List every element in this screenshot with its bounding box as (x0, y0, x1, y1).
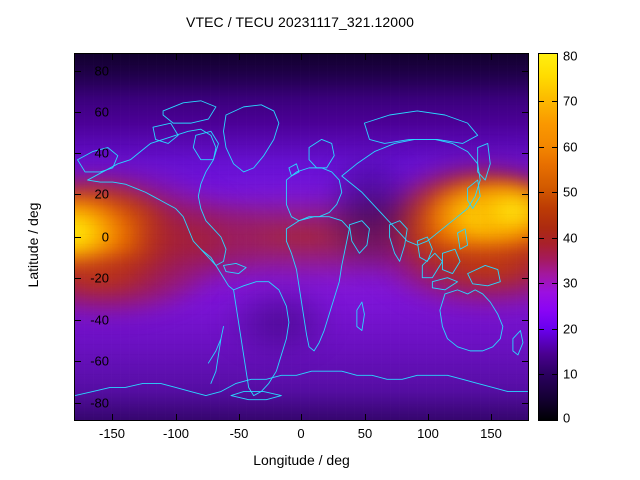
ytick-mark-right (522, 278, 529, 279)
coastline-antarctic-peninsula (208, 326, 223, 383)
xtick-label: 0 (297, 426, 304, 441)
xtick-label: -150 (99, 426, 125, 441)
coastline-scandinavia (309, 139, 334, 167)
colorbar-tick-mark (538, 147, 544, 148)
xtick-mark-top (301, 53, 302, 60)
coastline-ross-sea (231, 392, 281, 400)
colorbar-tick-label: 10 (563, 367, 577, 382)
coastline-new-zealand (513, 331, 523, 355)
coastline-siberia-north (364, 111, 477, 144)
page-title: VTEC / TECU 20231117_321.12000 (0, 14, 600, 30)
colorbar-tick-label: 40 (563, 231, 577, 246)
colorbar-tick-mark-right (552, 192, 558, 193)
coastline-british-isles (289, 164, 299, 176)
xtick-mark-top (365, 53, 366, 60)
coastline-antarctica (75, 371, 528, 395)
ytick-mark-right (522, 361, 529, 362)
xtick-label: 150 (480, 426, 502, 441)
ytick-label: -60 (90, 354, 109, 369)
ytick-mark-right (522, 112, 529, 113)
xtick-label: 100 (417, 426, 439, 441)
colorbar-tick-label: 30 (563, 276, 577, 291)
colorbar-tick-mark (538, 192, 544, 193)
ytick-mark (74, 320, 81, 321)
colorbar-tick-mark (538, 374, 544, 375)
xtick-mark (176, 414, 177, 421)
colorbar-tick-mark (538, 101, 544, 102)
colorbar-tick-mark-right (552, 329, 558, 330)
coastline-south-america (234, 282, 289, 396)
colorbar-tick-label: 20 (563, 322, 577, 337)
xtick-mark (239, 414, 240, 421)
coastline-sumatra (422, 253, 442, 277)
vtec-map-axes[interactable] (74, 53, 529, 421)
xtick-mark-top (176, 53, 177, 60)
x-axis-label: Longitude / deg (74, 452, 529, 468)
coastline-arabia (349, 221, 369, 254)
xtick-mark-top (112, 53, 113, 60)
y-axis-label: Latitude / deg (25, 165, 41, 325)
ytick-mark-right (522, 237, 529, 238)
colorbar-tick-mark (538, 283, 544, 284)
ytick-mark (74, 71, 81, 72)
coastline-philippines (458, 229, 468, 249)
xtick-mark (301, 414, 302, 421)
coastline-australia (440, 290, 503, 351)
ytick-mark (74, 153, 81, 154)
coastline-overlay (75, 54, 528, 420)
ytick-mark (74, 361, 81, 362)
xtick-label: 50 (358, 426, 372, 441)
ytick-mark-right (522, 153, 529, 154)
colorbar-tick-mark-right (552, 101, 558, 102)
ytick-label: -20 (90, 271, 109, 286)
coastline-central-america (201, 249, 234, 290)
ytick-mark-right (522, 71, 529, 72)
colorbar-tick-label: 50 (563, 185, 577, 200)
coastline-java (432, 278, 457, 290)
xtick-mark-top (491, 53, 492, 60)
colorbar-tick-mark-right (552, 374, 558, 375)
coastline-europe (286, 168, 341, 221)
coastline-borneo (442, 249, 460, 273)
colorbar-tick-mark-right (552, 147, 558, 148)
colorbar-tick-label: 70 (563, 94, 577, 109)
colorbar-tick-mark-right (552, 238, 558, 239)
xtick-label: -100 (163, 426, 189, 441)
ytick-mark (74, 278, 81, 279)
ytick-label: -80 (90, 396, 109, 411)
coastline-japan (468, 180, 481, 208)
coastline-arctic-islands (163, 101, 216, 123)
colorbar-tick-label: 80 (563, 49, 577, 64)
coastline-victoria-island (153, 123, 178, 143)
ytick-mark-right (522, 403, 529, 404)
ytick-label: 80 (95, 64, 109, 79)
xtick-mark (428, 414, 429, 421)
figure-canvas: VTEC / TECU 20231117_321.12000 (0, 0, 640, 480)
coastline-greenland (223, 105, 278, 172)
coastline-new-guinea (468, 265, 501, 285)
ytick-label: 40 (95, 146, 109, 161)
ytick-mark (74, 112, 81, 113)
ytick-mark-right (522, 320, 529, 321)
coastline-asia (342, 139, 480, 245)
coastline-india (390, 221, 408, 262)
colorbar-tick-label: 60 (563, 140, 577, 155)
xtick-mark (112, 414, 113, 421)
xtick-mark (365, 414, 366, 421)
xtick-mark-top (239, 53, 240, 60)
coastline-caribbean (223, 263, 246, 273)
colorbar-tick-label: 0 (563, 411, 570, 426)
ytick-mark-right (522, 194, 529, 195)
ytick-mark (74, 194, 81, 195)
colorbar-tick-mark (538, 238, 544, 239)
colorbar-tick-mark-right (552, 283, 558, 284)
xtick-mark-top (428, 53, 429, 60)
colorbar[interactable] (538, 53, 558, 421)
coastline-madagascar (357, 302, 365, 330)
ytick-label: -40 (90, 313, 109, 328)
ytick-label: 20 (95, 187, 109, 202)
ytick-label: 60 (95, 105, 109, 120)
ytick-mark (74, 237, 81, 238)
xtick-label: -50 (230, 426, 249, 441)
colorbar-tick-mark (538, 329, 544, 330)
ytick-mark (74, 403, 81, 404)
coastline-kamchatka (478, 143, 491, 180)
coastline-africa (286, 217, 349, 351)
ytick-label: 0 (102, 230, 109, 245)
xtick-mark (491, 414, 492, 421)
